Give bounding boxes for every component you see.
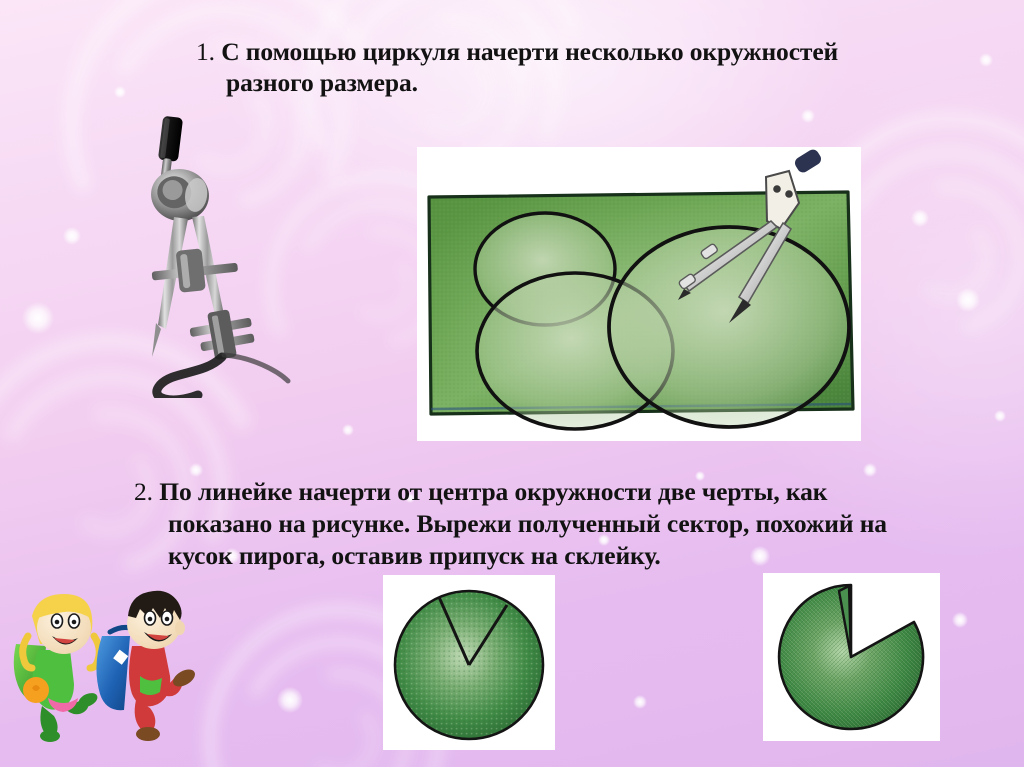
step-2-line-3: кусок пирога, оставив припуск на склейку… [168, 540, 954, 572]
sparkle-9 [801, 109, 815, 123]
sparkle-15 [952, 612, 968, 628]
step-1-text: 1. С помощью циркуля начерти несколько о… [196, 36, 896, 98]
swirl-ring [345, 251, 417, 323]
two-cartoon-schoolchildren [2, 588, 198, 748]
step-1-line-2: разного размера. [226, 67, 896, 98]
step-2-line-1: 2. По линейке начерти от центра окружнос… [134, 476, 954, 508]
sparkle-10 [911, 209, 929, 227]
sparkle-17 [633, 695, 647, 709]
sparkle-4 [277, 687, 303, 713]
step-2-line-1-text: По линейке начерти от центра окружности … [159, 477, 827, 506]
sparkle-1 [63, 227, 81, 245]
sparkle-12 [979, 53, 993, 67]
sparkle-18 [994, 410, 1006, 422]
step-1-line-1: 1. С помощью циркуля начерти несколько о… [196, 36, 896, 67]
swirl-ring [842, 150, 1024, 366]
sparkle-14 [863, 463, 877, 477]
swirl-ring [903, 211, 996, 304]
sparkle-5 [342, 424, 354, 436]
slide-canvas: 1. С помощью циркуля начерти несколько о… [0, 0, 1024, 767]
green-paper-with-circles [417, 147, 861, 441]
step-1-number: 1. [196, 37, 215, 66]
sparkle-11 [956, 288, 980, 312]
step-2-line-2: показано на рисунке. Вырежи полученный с… [168, 508, 954, 540]
circle-with-sector-cut-out [763, 573, 940, 741]
boy-character [96, 591, 197, 741]
step-2-text: 2. По линейке начерти от центра окружнос… [134, 476, 954, 572]
step-2-number: 2. [134, 477, 153, 506]
step-1-line-1-text: С помощью циркуля начерти несколько окру… [221, 37, 838, 66]
sparkle-2 [189, 463, 203, 477]
swirl-ring [297, 697, 384, 767]
circle-with-two-lines [383, 575, 555, 750]
sparkle-16 [114, 86, 126, 98]
sparkle-0 [22, 302, 54, 334]
girl-character [14, 594, 100, 742]
compass-photo [112, 113, 292, 398]
